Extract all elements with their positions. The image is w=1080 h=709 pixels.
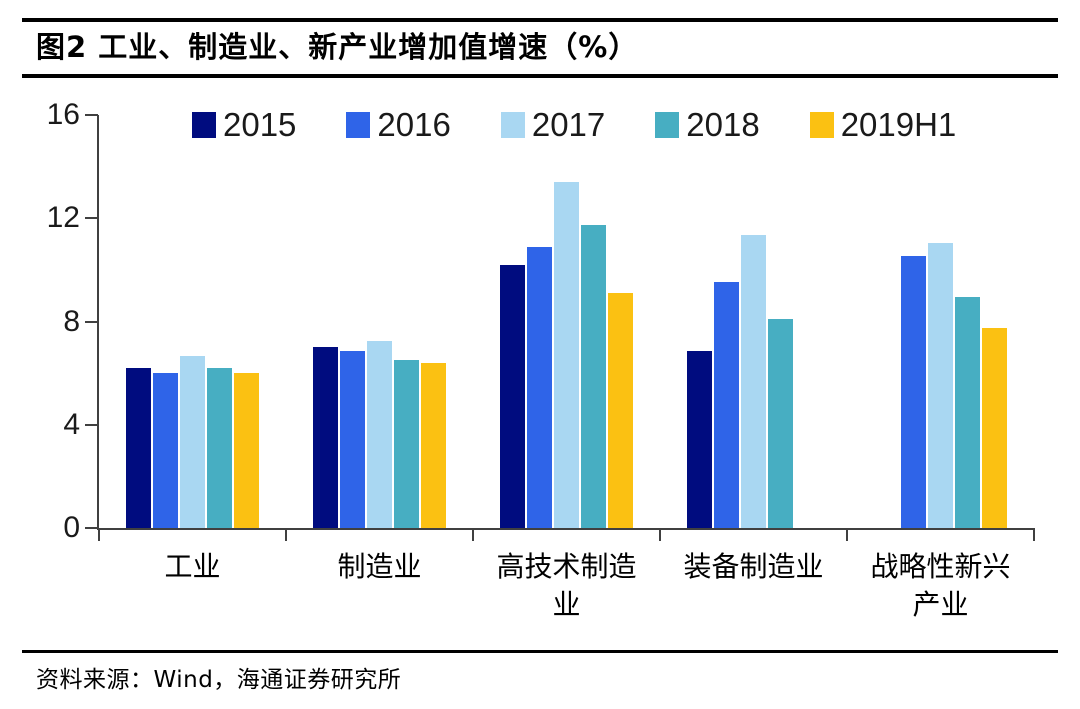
x-axis-category-label: 高技术制造业 [467, 548, 666, 624]
bar-2019H1-工业[interactable] [234, 373, 259, 528]
figure-container: 图2 工业、制造业、新产业增加值增速（%） 0481216 2015201620… [0, 0, 1080, 709]
x-axis-category-label-line: 工业 [93, 548, 292, 586]
bar-2015-工业[interactable] [126, 368, 151, 528]
bar-2019H1-制造业[interactable] [421, 363, 446, 528]
bar-2018-高技术制造业[interactable] [581, 225, 606, 528]
x-axis-category-label: 装备制造业 [654, 548, 853, 586]
bar-2018-工业[interactable] [207, 368, 232, 528]
bar-2016-工业[interactable] [153, 373, 178, 528]
x-axis-category-label: 工业 [93, 548, 292, 586]
bar-2019H1-战略性新兴产业[interactable] [982, 328, 1007, 528]
bar-2016-装备制造业[interactable] [714, 282, 739, 529]
title-rule-bottom [22, 74, 1058, 78]
source-note: 资料来源：Wind，海通证券研究所 [36, 660, 401, 694]
bar-2015-高技术制造业[interactable] [500, 265, 525, 528]
bar-2016-制造业[interactable] [340, 351, 365, 528]
x-axis-category-label: 战略性新兴产业 [841, 548, 1040, 624]
page-title: 图2 工业、制造业、新产业增加值增速（%） [36, 22, 638, 72]
bar-2017-高技术制造业[interactable] [554, 182, 579, 528]
bar-2015-装备制造业[interactable] [687, 351, 712, 528]
x-axis-category-label-line: 高技术制造 [467, 548, 666, 586]
chart-plot-area: 0481216 20152016201720182019H1 工业制造业高技术制… [0, 86, 1080, 646]
bar-2018-战略性新兴产业[interactable] [955, 297, 980, 528]
bar-2015-制造业[interactable] [313, 347, 338, 528]
bar-2018-制造业[interactable] [394, 360, 419, 528]
footer-rule [22, 650, 1058, 653]
x-axis-category-label-line: 业 [467, 586, 666, 624]
bar-2018-装备制造业[interactable] [768, 319, 793, 528]
x-axis-category-labels: 工业制造业高技术制造业装备制造业战略性新兴产业 [0, 548, 1080, 658]
bar-2017-制造业[interactable] [367, 341, 392, 528]
bar-2017-工业[interactable] [180, 356, 205, 528]
x-axis-category-label-line: 制造业 [280, 548, 479, 586]
bar-2019H1-高技术制造业[interactable] [608, 293, 633, 528]
bar-2016-高技术制造业[interactable] [527, 247, 552, 528]
x-axis-category-label-line: 装备制造业 [654, 548, 853, 586]
x-axis-category-label: 制造业 [280, 548, 479, 586]
bar-2016-战略性新兴产业[interactable] [901, 256, 926, 528]
bar-2017-战略性新兴产业[interactable] [928, 243, 953, 528]
x-axis-category-label-line: 战略性新兴 [841, 548, 1040, 586]
bar-2017-装备制造业[interactable] [741, 235, 766, 528]
x-axis-category-label-line: 产业 [841, 586, 1040, 624]
